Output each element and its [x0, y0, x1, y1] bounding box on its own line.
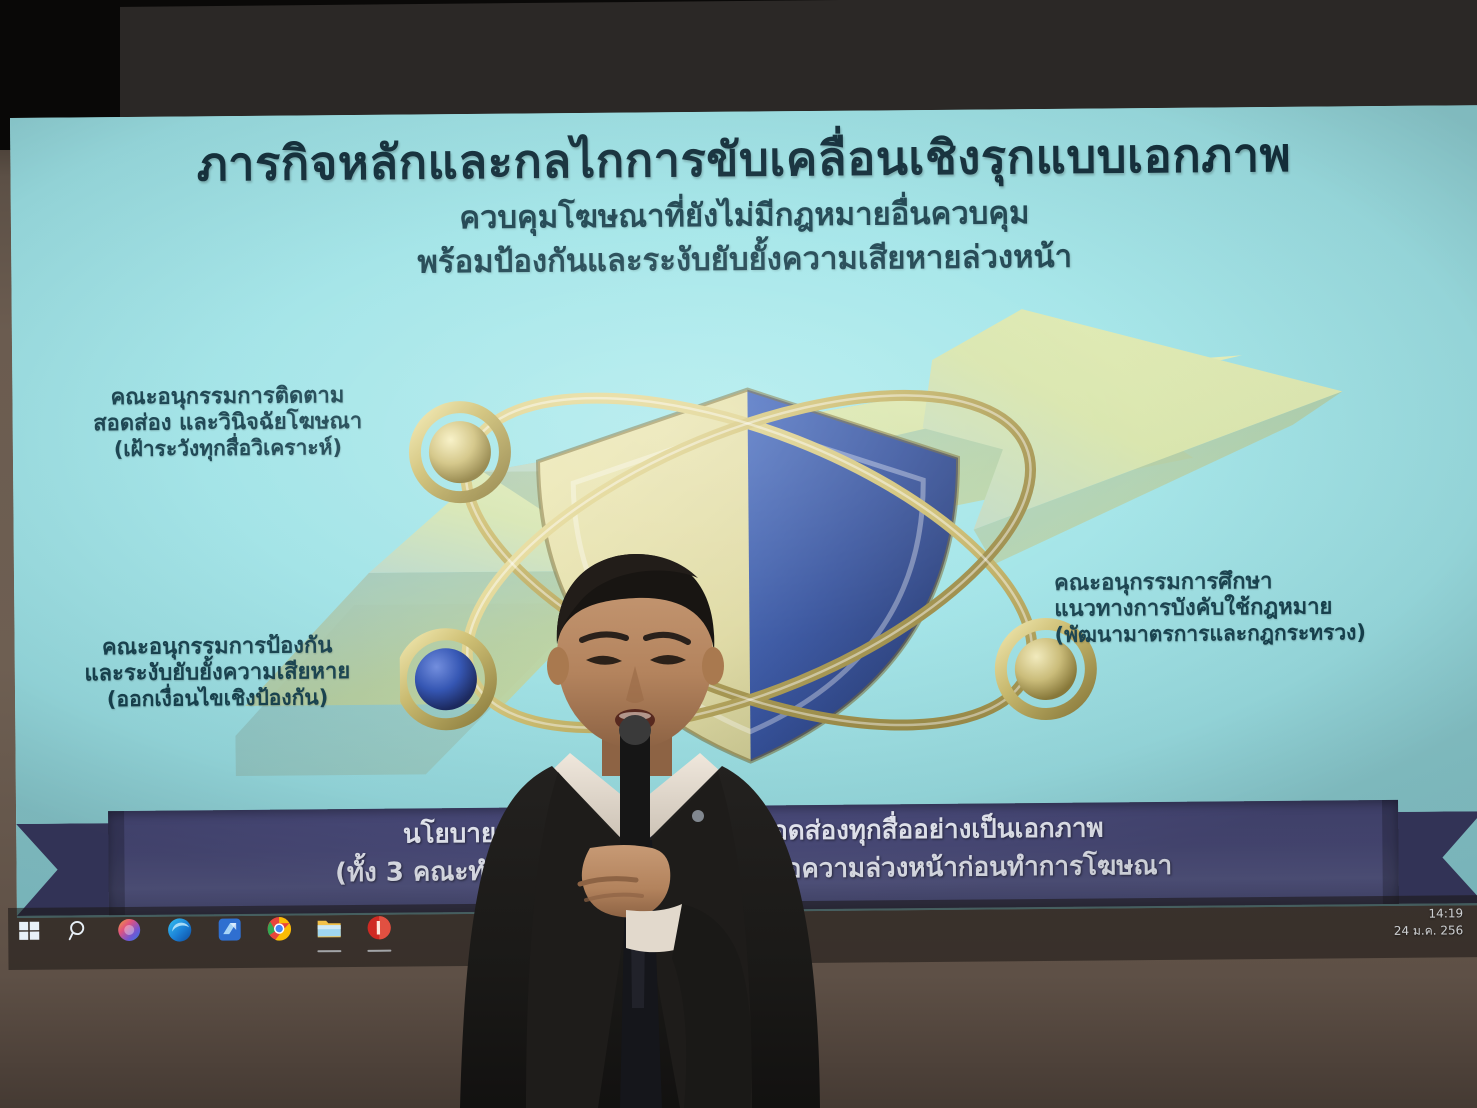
search-icon[interactable] [64, 915, 94, 945]
taskbar-icon-group [14, 913, 394, 946]
speaker-svg [430, 548, 900, 1108]
presentation-photo: ภารกิจหลักและกลไกการขับเคลื่อนเชิงรุกแบบ… [0, 0, 1477, 1108]
chrome-icon[interactable] [264, 914, 294, 944]
store-icon[interactable] [214, 914, 244, 944]
running-indicator-pdf [367, 950, 391, 952]
edge-icon[interactable] [164, 914, 194, 944]
file-explorer-icon[interactable] [314, 913, 344, 943]
running-indicator-explorer [317, 950, 341, 952]
speaker-person [430, 548, 900, 1108]
windows-start-icon[interactable] [14, 916, 44, 946]
pdf-reader-icon[interactable] [364, 913, 394, 943]
taskbar-clock[interactable]: 14:19 24 ม.ค. 256 [1394, 905, 1464, 940]
clock-time: 14:19 [1394, 905, 1464, 923]
copilot-icon[interactable] [114, 915, 144, 945]
clock-date: 24 ม.ค. 256 [1394, 923, 1464, 941]
